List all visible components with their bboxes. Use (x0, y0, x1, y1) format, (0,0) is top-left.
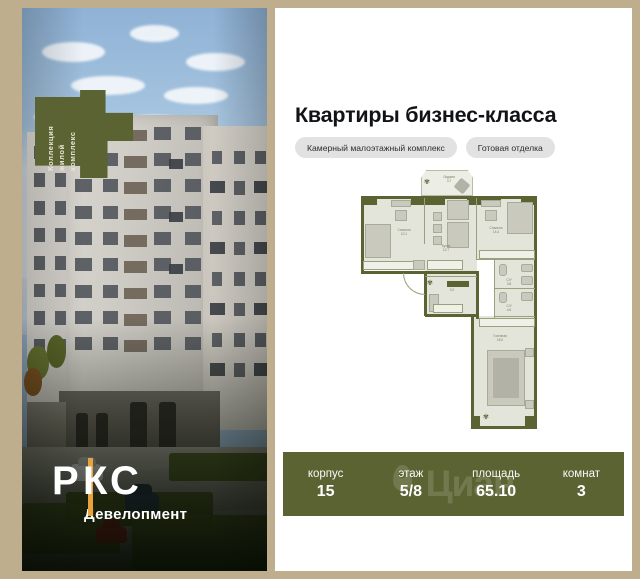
zhk-collection-badge: Коллекция жилой комплекс (35, 90, 133, 178)
room-label-bath-1: С/У 3.8 (499, 278, 519, 287)
room-label-living: Гостиная 18.0 (483, 334, 517, 343)
logo-subtitle: Девелопмент (84, 506, 202, 523)
info-rooms-value: 3 (539, 483, 624, 501)
info-floor-key: этаж (368, 468, 453, 480)
feature-badges: Камерный малоэтажный комплекс Готовая от… (295, 137, 555, 158)
room-label-bedroom-2: Спальня 14.4 (481, 226, 511, 235)
info-floor-value: 5/8 (368, 483, 453, 501)
room-label-bedroom-1: Спальня 12.1 (389, 228, 419, 237)
info-building: корпус 15 (283, 468, 368, 501)
info-rooms: комнат 3 (539, 468, 624, 501)
room-label-bath-2: С/У 4.6 (499, 304, 519, 313)
apartment-floor-plan: Лоджия 3.7 ✾ (355, 168, 550, 438)
info-building-key: корпус (283, 468, 368, 480)
badge-finished-interior: Готовая отделка (466, 137, 555, 158)
info-area-value: 65.10 (454, 483, 539, 501)
rks-developer-logo: Р К С Девелопмент (52, 460, 202, 523)
apartment-summary-bar: Циан корпус 15 этаж 5/8 площадь 65.10 ко… (283, 452, 624, 516)
entrance-door-swing (403, 273, 425, 295)
apartment-info-panel: Квартиры бизнес-класса Камерный малоэтаж… (275, 8, 632, 571)
logo-letter-k: К (83, 460, 107, 502)
logo-letter-c: С (110, 460, 139, 502)
info-floor: этаж 5/8 (368, 468, 453, 501)
page-title: Квартиры бизнес-класса (295, 103, 556, 128)
info-area: площадь 65.10 (454, 468, 539, 501)
logo-letter-p: Р (52, 460, 79, 502)
info-rooms-key: комнат (539, 468, 624, 480)
info-building-value: 15 (283, 483, 368, 501)
info-area-key: площадь (454, 468, 539, 480)
building-render-panel: Коллекция жилой комплекс Р К С Девелопме… (22, 8, 267, 571)
badge-low-rise-complex: Камерный малоэтажный комплекс (295, 137, 457, 158)
zhk-badge-label: Коллекция жилой комплекс (45, 99, 78, 171)
room-label-kitchen: Кухня 12.7 (429, 244, 463, 253)
